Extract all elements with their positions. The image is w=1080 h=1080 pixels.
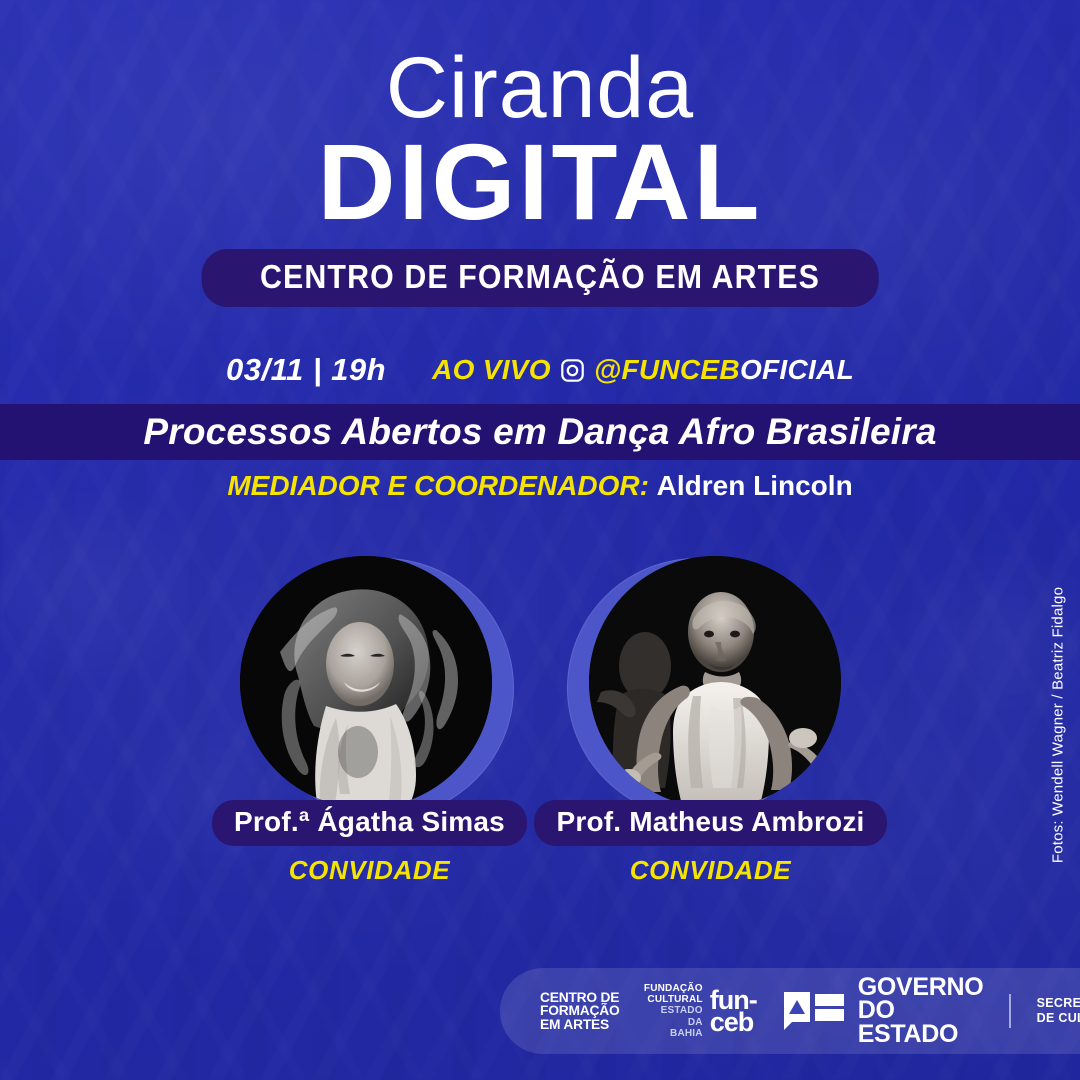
brand-title-secondary: DIGITAL: [0, 128, 1080, 236]
instagram-icon: [560, 358, 585, 383]
poster-canvas: Ciranda DIGITAL CENTRO DE FORMAÇÃO EM AR…: [0, 0, 1080, 1080]
governo-wordmark: GOVERNO DO ESTADO: [858, 976, 984, 1047]
speaker-name-pill: Prof.ª Ágatha Simas: [212, 800, 527, 846]
mediator-label: MEDIADOR E COORDENADOR:: [227, 470, 649, 501]
cfa-line-3: EM ARTES: [540, 1018, 619, 1032]
handle-rest: OFICIAL: [740, 354, 854, 385]
funceb-line-3: ESTADO DA: [644, 1005, 703, 1027]
secretaria-line-2: DE CULTURA: [1037, 1011, 1080, 1026]
speaker-name-pill: Prof. Matheus Ambrozi: [534, 800, 886, 846]
portrait-frame: [240, 556, 500, 816]
event-datetime: 03/11 | 19h: [226, 352, 386, 388]
speaker-photo-matheus: [589, 556, 841, 808]
brand-title-primary: Ciranda: [0, 46, 1080, 130]
governo-flag-icon: [783, 991, 845, 1031]
funceb-line-4: BAHIA: [644, 1028, 703, 1039]
speaker-name: Prof.ª Ágatha Simas: [234, 806, 505, 837]
logo-funceb: FUNDAÇÃO CULTURAL ESTADO DA BAHIA fun- c…: [644, 983, 757, 1039]
speaker-name: Prof. Matheus Ambrozi: [556, 806, 864, 837]
speaker-role: CONVIDADE: [630, 855, 791, 886]
photo-credit-text: Fotos: Wendell Wagner / Beatriz Fidalgo: [1050, 587, 1067, 863]
funceb-line-1: FUNDAÇÃO: [644, 983, 703, 994]
speaker-card: Prof.ª Ágatha Simas CONVIDADE: [227, 556, 512, 886]
funceb-line-2: CULTURAL: [644, 994, 703, 1005]
footer-divider: [1009, 994, 1010, 1028]
speaker-photo-agatha: [240, 556, 492, 808]
portrait-frame: [581, 556, 841, 816]
schedule-row: 03/11 | 19h AO VIVO @FUNCEBOFICIAL: [0, 352, 1080, 388]
mediator-line: MEDIADOR E COORDENADOR: Aldren Lincoln: [0, 470, 1080, 502]
funceb-logo-mark: fun- ceb: [710, 989, 757, 1033]
logo-centro-de-formacao: CENTRO DE FORMAÇÃO EM ARTES: [540, 991, 618, 1032]
subtitle-pill: CENTRO DE FORMAÇÃO EM ARTES: [202, 249, 879, 307]
cfa-line-1: CENTRO DE: [540, 991, 619, 1005]
speaker-card: Prof. Matheus Ambrozi CONVIDADE: [568, 556, 853, 886]
cfa-line-2: FORMAÇÃO: [540, 1004, 619, 1018]
mediator-name: Aldren Lincoln: [657, 470, 853, 501]
speaker-role: CONVIDADE: [289, 855, 450, 886]
live-label: AO VIVO: [432, 354, 551, 386]
photo-credit: Fotos: Wendell Wagner / Beatriz Fidalgo: [1044, 560, 1072, 890]
instagram-handle[interactable]: @FUNCEBOFICIAL: [594, 354, 854, 386]
logo-secretaria-de-cultura: SECRETARIA DE CULTURA: [1037, 996, 1080, 1027]
footer-logo-bar: CENTRO DE FORMAÇÃO EM ARTES FUNDAÇÃO CUL…: [500, 968, 1080, 1054]
speakers-row: Prof.ª Ágatha Simas CONVIDADE: [0, 556, 1080, 886]
governo-line-2: DO ESTADO: [858, 999, 984, 1046]
handle-highlight: @FUNCEB: [594, 354, 740, 385]
event-title: Processos Abertos em Dança Afro Brasilei…: [0, 404, 1080, 460]
live-broadcast-info: AO VIVO @FUNCEBOFICIAL: [432, 354, 854, 386]
funceb-mark-bottom: ceb: [710, 1011, 757, 1033]
subtitle-pill-label: CENTRO DE FORMAÇÃO EM ARTES: [260, 258, 820, 296]
secretaria-line-1: SECRETARIA: [1037, 996, 1080, 1011]
funceb-wordmark-text: FUNDAÇÃO CULTURAL ESTADO DA BAHIA: [644, 983, 703, 1039]
logo-governo-do-estado: GOVERNO DO ESTADO: [783, 976, 984, 1047]
